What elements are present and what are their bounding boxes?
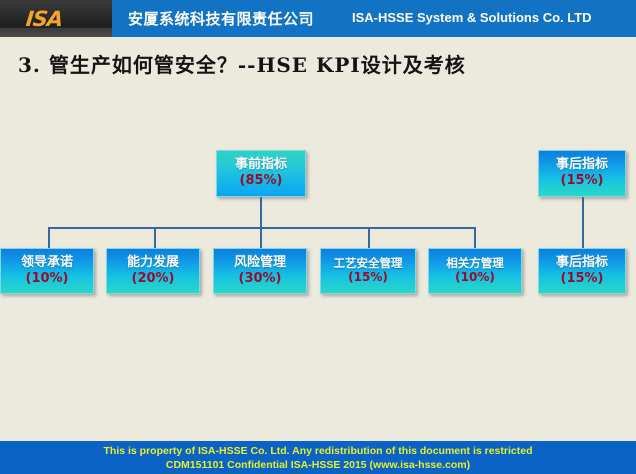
- node-label: 风险管理: [234, 256, 286, 271]
- node-label: 领导承诺: [21, 256, 73, 271]
- node-label: 工艺安全管理: [334, 257, 403, 270]
- node-label: 事后指标: [556, 256, 608, 271]
- node-percent: (10%): [26, 272, 69, 287]
- footer-document-line: CDM151101 Confidential ISA-HSSE 2015 (ww…: [0, 457, 636, 471]
- company-name-en: ISA-HSSE System & Solutions Co. LTD: [352, 10, 592, 25]
- logo-panel: ISA: [0, 0, 112, 37]
- node-percent: (15%): [348, 271, 388, 284]
- connector-drop-1: [48, 227, 50, 249]
- node-percent: (10%): [455, 271, 495, 284]
- node-percent: (15%): [561, 272, 604, 287]
- org-chart-diagram: 事前指标 (85%) 事后指标 (15%) 领导承诺 (10%) 能力发展 (2…: [0, 37, 636, 437]
- header-bar: ISA 安厦系统科技有限责任公司 ISA-HSSE System & Solut…: [0, 0, 636, 37]
- node-root-leading-indicator[interactable]: 事前指标 (85%): [216, 150, 306, 197]
- node-child-process-safety-management[interactable]: 工艺安全管理 (15%): [320, 248, 416, 294]
- connector-drop-4: [368, 227, 370, 249]
- footer-bar: This is property of ISA-HSSE Co. Ltd. An…: [0, 441, 636, 474]
- connector-drop-2: [154, 227, 156, 249]
- node-percent: (30%): [239, 272, 282, 287]
- node-child-leadership-commitment[interactable]: 领导承诺 (10%): [0, 248, 94, 294]
- connector-horizontal-bus: [48, 227, 476, 229]
- connector-root-stem: [260, 197, 262, 228]
- company-name-cn: 安厦系统科技有限责任公司: [128, 8, 314, 29]
- isa-logo: ISA: [25, 7, 64, 31]
- node-label: 事后指标: [556, 158, 608, 173]
- node-child-contractor-management[interactable]: 相关方管理 (10%): [428, 248, 522, 294]
- node-label: 事前指标: [235, 158, 287, 173]
- node-side-lagging-indicator[interactable]: 事后指标 (15%): [538, 150, 626, 197]
- node-percent: (15%): [561, 174, 604, 189]
- footer-copyright-line: This is property of ISA-HSSE Co. Ltd. An…: [0, 441, 636, 457]
- node-label: 能力发展: [127, 256, 179, 271]
- node-percent: (20%): [132, 272, 175, 287]
- connector-side-stem: [582, 197, 584, 249]
- connector-drop-3: [260, 227, 262, 249]
- node-child-capability-development[interactable]: 能力发展 (20%): [106, 248, 200, 294]
- node-child-lagging-indicator[interactable]: 事后指标 (15%): [538, 248, 626, 294]
- node-label: 相关方管理: [446, 257, 504, 270]
- connector-drop-5: [474, 227, 476, 249]
- node-percent: (85%): [240, 174, 283, 189]
- node-child-risk-management[interactable]: 风险管理 (30%): [213, 248, 307, 294]
